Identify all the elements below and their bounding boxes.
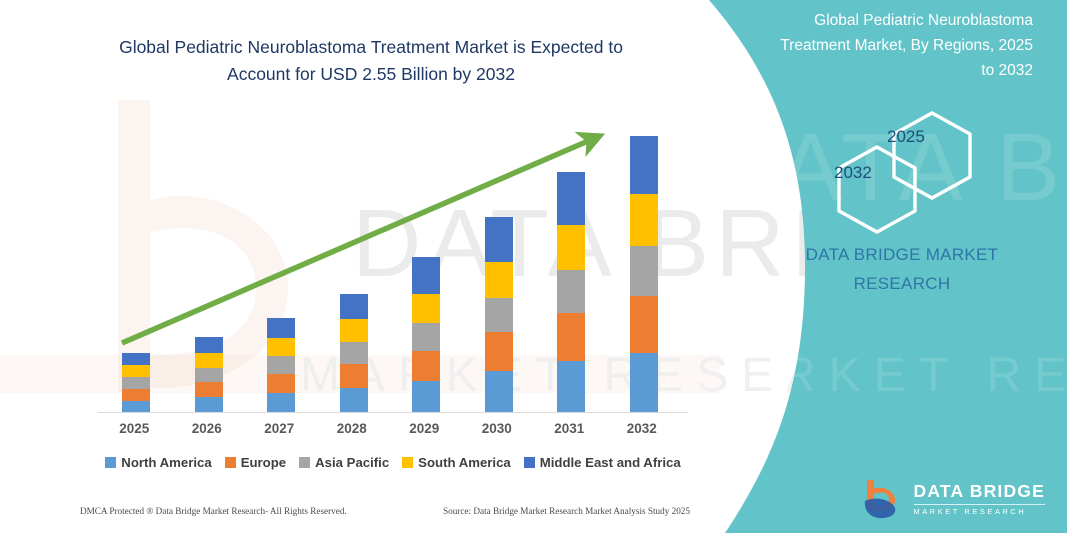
x-axis-line — [98, 412, 688, 413]
stacked-bar-plot — [100, 110, 680, 413]
bar-column — [557, 172, 585, 413]
bar-segment — [485, 371, 513, 413]
hexagon-label-start: 2025 — [887, 127, 925, 147]
legend-item[interactable]: South America — [402, 455, 511, 470]
bar-segment — [630, 353, 658, 413]
legend-label: Middle East and Africa — [540, 455, 681, 470]
bar-segment — [412, 294, 440, 323]
footer-copyright: DMCA Protected ® Data Bridge Market Rese… — [80, 506, 347, 516]
bar-segment — [340, 342, 368, 364]
legend-item[interactable]: Europe — [225, 455, 286, 470]
bar-column — [267, 318, 295, 413]
bar-segment — [267, 356, 295, 374]
panel-brand-name: DATA BRIDGE MARKET RESEARCH — [772, 240, 1032, 298]
legend-label: South America — [418, 455, 511, 470]
bar-column — [630, 136, 658, 413]
hexagon-2025 — [894, 113, 970, 198]
legend-swatch — [225, 457, 236, 468]
chart-title-line1: Global Pediatric Neuroblastoma Treatment… — [119, 37, 623, 57]
panel-title-line3: to 2032 — [981, 62, 1033, 79]
bar-column — [195, 337, 223, 413]
bar-segment — [557, 270, 585, 313]
bar-segment — [122, 365, 150, 377]
logo-tagline: MARKET RESEARCH — [914, 508, 1045, 515]
bar-segment — [122, 389, 150, 401]
legend-swatch — [105, 457, 116, 468]
bar-segment — [485, 262, 513, 298]
infographic-canvas: DATA BRIDGE MARKET RESEARCH Global Pedia… — [0, 0, 1067, 533]
x-axis-label: 2028 — [317, 421, 387, 436]
footer: DMCA Protected ® Data Bridge Market Rese… — [80, 506, 690, 516]
bar-segment — [195, 368, 223, 382]
bar-segment — [412, 323, 440, 351]
bar-segment — [630, 194, 658, 246]
footer-source: Source: Data Bridge Market Research Mark… — [443, 506, 690, 516]
x-axis-label: 2026 — [172, 421, 242, 436]
panel-title: Global Pediatric Neuroblastoma Treatment… — [765, 8, 1033, 83]
bar-segment — [340, 364, 368, 388]
logo-b-icon — [861, 477, 905, 521]
panel-brand-line1: DATA BRIDGE MARKET — [806, 245, 999, 264]
bar-column — [412, 257, 440, 413]
bar-segment — [195, 382, 223, 397]
chart-legend: North AmericaEuropeAsia PacificSouth Ame… — [98, 455, 688, 470]
panel-title-line2: Treatment Market, By Regions, 2025 — [780, 37, 1033, 54]
bar-segment — [557, 361, 585, 413]
bar-segment — [195, 353, 223, 368]
bar-segment — [557, 225, 585, 270]
hexagon-label-end: 2032 — [834, 163, 872, 183]
bar-segment — [340, 319, 368, 342]
logo-name: DATA BRIDGE — [914, 483, 1045, 501]
bar-column — [122, 353, 150, 413]
bar-segment — [122, 353, 150, 365]
legend-item[interactable]: Asia Pacific — [299, 455, 389, 470]
hexagon-2032 — [839, 147, 915, 232]
bar-segment — [630, 296, 658, 353]
legend-item[interactable]: North America — [105, 455, 211, 470]
bar-segment — [630, 136, 658, 194]
bar-column — [485, 217, 513, 413]
chart-title: Global Pediatric Neuroblastoma Treatment… — [86, 34, 656, 88]
bar-segment — [195, 337, 223, 353]
bar-segment — [340, 388, 368, 413]
bar-segment — [485, 217, 513, 262]
x-axis-label: 2027 — [244, 421, 314, 436]
bar-segment — [557, 172, 585, 225]
chart-title-line2: Account for USD 2.55 Billion by 2032 — [227, 64, 515, 84]
panel-brand-line2: RESEARCH — [854, 274, 951, 293]
bar-segment — [412, 381, 440, 413]
bar-segment — [485, 298, 513, 332]
logo-divider — [914, 504, 1045, 505]
bar-segment — [195, 397, 223, 413]
x-axis-label: 2030 — [462, 421, 532, 436]
legend-swatch — [299, 457, 310, 468]
x-axis-labels: 20252026202720282029203020312032 — [98, 421, 688, 445]
bar-segment — [267, 338, 295, 356]
bar-segment — [412, 257, 440, 294]
x-axis-label: 2025 — [99, 421, 169, 436]
logo-text: DATA BRIDGE MARKET RESEARCH — [914, 483, 1045, 515]
bar-column — [340, 294, 368, 413]
legend-label: Europe — [241, 455, 286, 470]
bar-segment — [557, 313, 585, 361]
panel-watermark-data-bridge: DATA BRIDGE — [703, 120, 1067, 216]
legend-label: Asia Pacific — [315, 455, 389, 470]
bar-segment — [267, 318, 295, 338]
x-axis-label: 2031 — [534, 421, 604, 436]
bar-segment — [122, 377, 150, 389]
legend-swatch — [402, 457, 413, 468]
panel-title-line1: Global Pediatric Neuroblastoma — [814, 12, 1033, 29]
legend-swatch — [524, 457, 535, 468]
x-axis-label: 2032 — [607, 421, 677, 436]
bar-segment — [485, 332, 513, 371]
teal-panel: DATA BRIDGE MARKET RESEARCH Global Pedia… — [687, 0, 1067, 533]
company-logo: DATA BRIDGE MARKET RESEARCH — [861, 477, 1045, 521]
panel-watermark-market-research: MARKET RESEARCH — [683, 352, 1067, 400]
bar-segment — [267, 393, 295, 413]
bar-segment — [630, 246, 658, 296]
bar-segment — [340, 294, 368, 319]
legend-label: North America — [121, 455, 211, 470]
bar-segment — [267, 374, 295, 393]
legend-item[interactable]: Middle East and Africa — [524, 455, 681, 470]
x-axis-label: 2029 — [389, 421, 459, 436]
bar-segment — [412, 351, 440, 381]
